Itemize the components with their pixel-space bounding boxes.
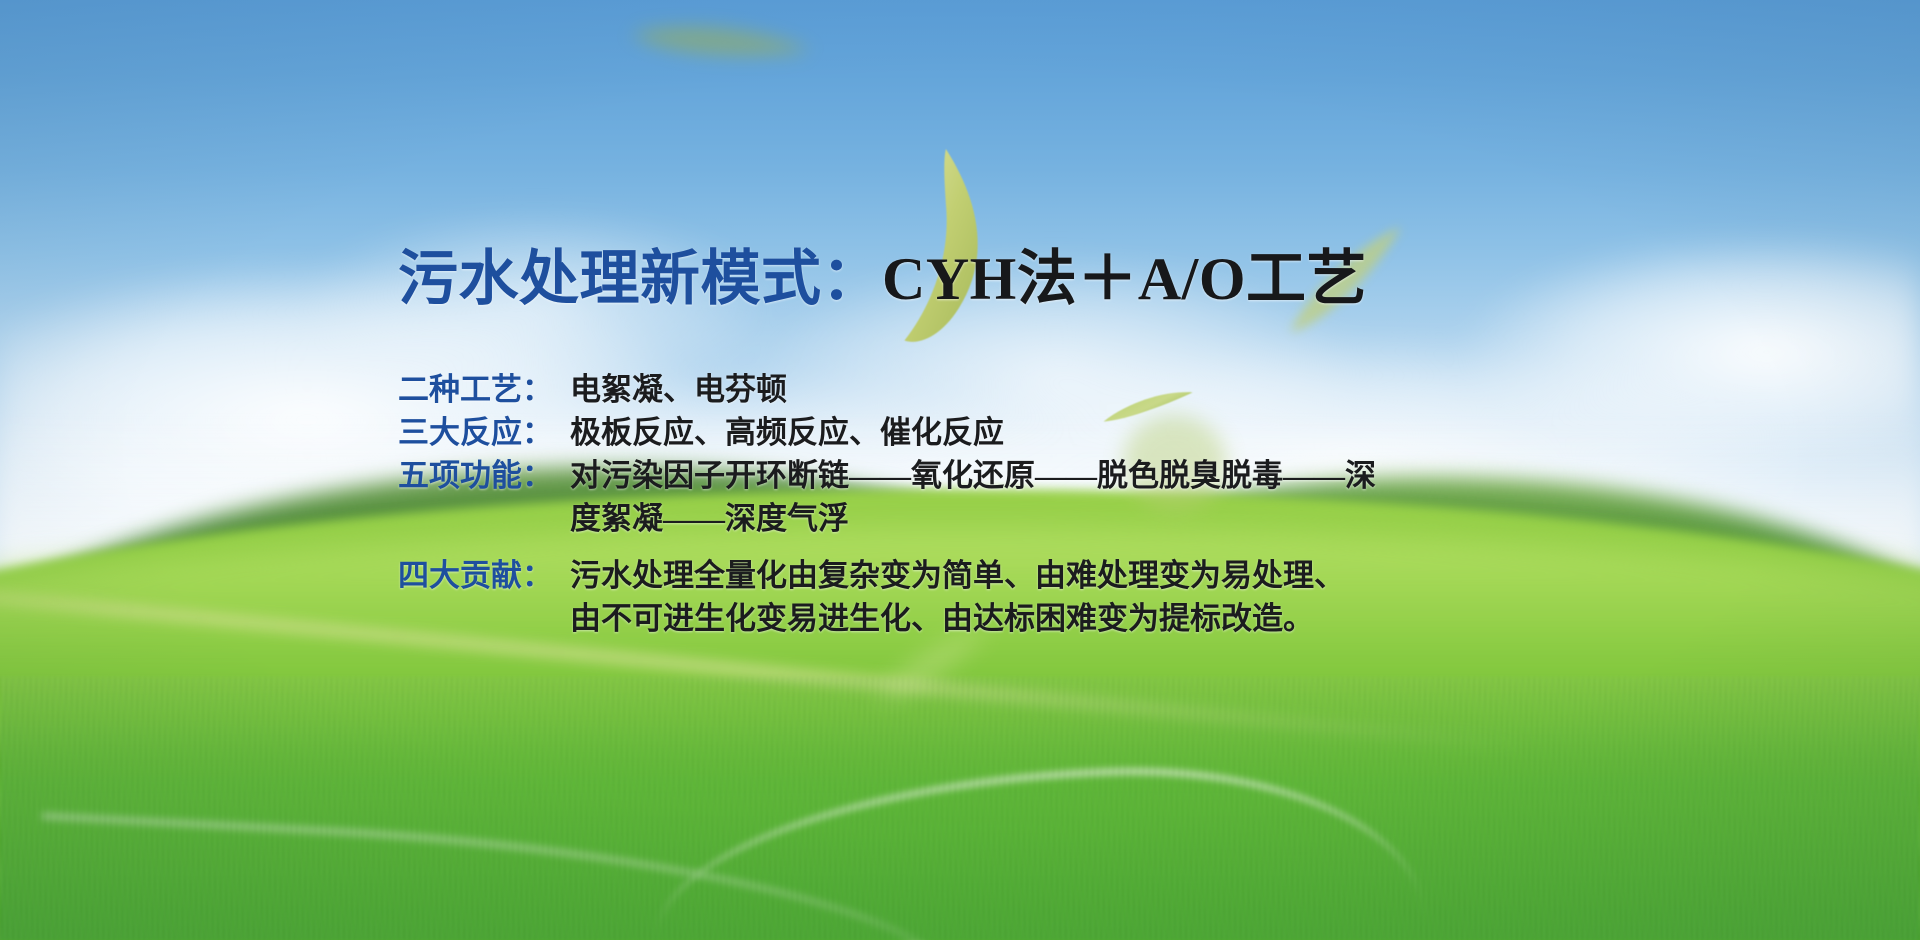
list-item-line: 对污染因子开环断链——氧化还原——脱色脱臭脱毒——深	[570, 454, 1518, 497]
title-black-part: CYH法＋A/O工艺	[882, 246, 1367, 312]
list-item: 四大贡献： 污水处理全量化由复杂变为简单、由难处理变为易处理、 由不可进生化变易…	[398, 554, 1518, 640]
page-title: 污水处理新模式：CYH法＋A/O工艺	[398, 249, 1367, 309]
list-item: 五项功能： 对污染因子开环断链——氧化还原——脱色脱臭脱毒——深 度絮凝——深度…	[398, 454, 1518, 540]
list-item-text: 污水处理全量化由复杂变为简单、由难处理变为易处理、 由不可进生化变易进生化、由达…	[570, 554, 1518, 640]
list-item-label: 五项功能：	[398, 454, 570, 497]
list-item-line: 度絮凝——深度气浮	[570, 497, 1518, 540]
list-item-line: 由不可进生化变易进生化、由达标困难变为提标改造。	[570, 597, 1518, 640]
list-item: 三大反应： 极板反应、高频反应、催化反应	[398, 411, 1518, 454]
list-item-text: 对污染因子开环断链——氧化还原——脱色脱臭脱毒——深 度絮凝——深度气浮	[570, 454, 1518, 540]
slide-canvas: 污水处理新模式：CYH法＋A/O工艺 二种工艺： 电絮凝、电芬顿 三大反应： 极…	[0, 0, 1920, 940]
bullet-list: 二种工艺： 电絮凝、电芬顿 三大反应： 极板反应、高频反应、催化反应 五项功能：…	[398, 368, 1518, 640]
list-item-text: 极板反应、高频反应、催化反应	[570, 411, 1518, 454]
text-content: 污水处理新模式：CYH法＋A/O工艺 二种工艺： 电絮凝、电芬顿 三大反应： 极…	[0, 0, 1920, 940]
title-blue-part: 污水处理新模式：	[398, 246, 882, 312]
list-item-line: 电絮凝、电芬顿	[570, 368, 1518, 411]
list-item: 二种工艺： 电絮凝、电芬顿	[398, 368, 1518, 411]
list-item-line: 污水处理全量化由复杂变为简单、由难处理变为易处理、	[570, 554, 1518, 597]
list-item-text: 电絮凝、电芬顿	[570, 368, 1518, 411]
list-item-label: 二种工艺：	[398, 368, 570, 411]
list-item-label: 三大反应：	[398, 411, 570, 454]
list-item-line: 极板反应、高频反应、催化反应	[570, 411, 1518, 454]
list-item-label: 四大贡献：	[398, 554, 570, 597]
